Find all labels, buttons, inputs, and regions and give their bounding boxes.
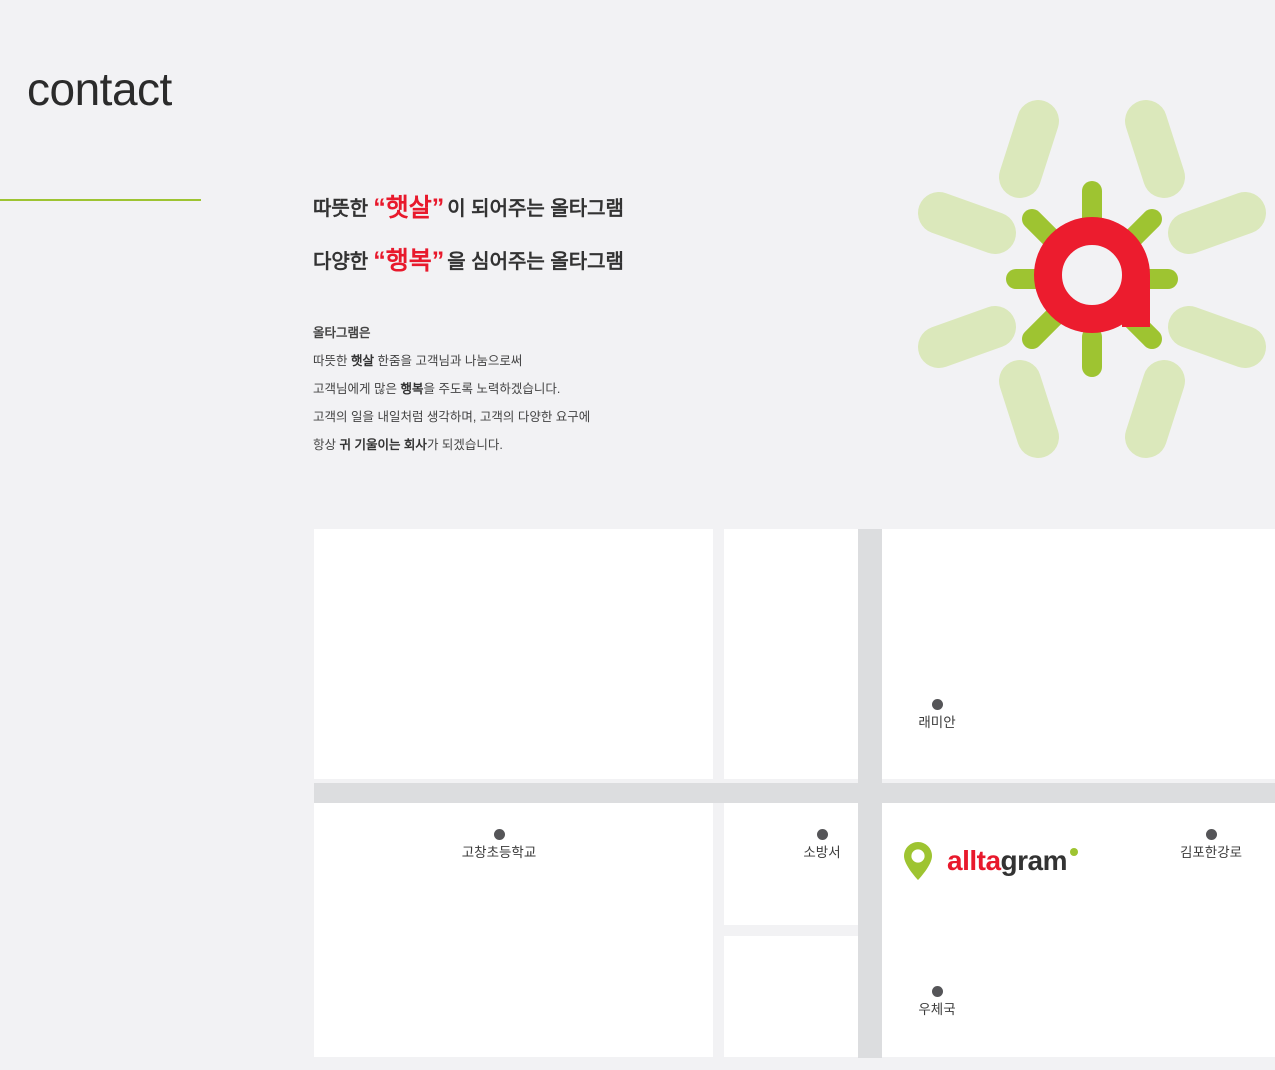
headline-2-suffix: 을 심어주는 올타그램 <box>445 251 624 273</box>
headline-1-suffix: 이 되어주는 올타그램 <box>445 198 624 220</box>
map-poi-fire-station[interactable]: 소방서 <box>757 829 887 860</box>
letter-a <box>1048 231 1150 327</box>
poi-dot-icon <box>932 699 943 710</box>
outer-rays <box>939 121 1245 437</box>
map-block-lower-middle-lower <box>724 936 858 1057</box>
map-poi-raemian[interactable]: 래미안 <box>872 699 1002 730</box>
map-block-upper-left <box>314 529 713 779</box>
headline-1-highlight: “햇살” <box>372 194 445 222</box>
body-line-4: 항상 귀 기울이는 회사가 되겠습니다. <box>313 431 733 459</box>
poi-label: 고창초등학교 <box>434 846 564 860</box>
location-pin-icon <box>904 842 932 880</box>
wordmark-dark-part: gram <box>1001 845 1067 876</box>
poi-dot-icon <box>494 829 505 840</box>
headline-1-prefix: 따뜻한 <box>313 198 372 220</box>
map-block-upper-right <box>882 529 1275 779</box>
map-poi-gochang-elementary-school[interactable]: 고창초등학교 <box>434 829 564 860</box>
wordmark-dot-icon <box>1070 848 1078 856</box>
map-road-horizontal <box>314 783 1275 803</box>
body-line-2: 고객님에게 많은 행복을 주도록 노력하겠습니다. <box>313 375 733 403</box>
headline-line-1: 따뜻한“햇살”이 되어주는 올타그램 <box>313 193 743 223</box>
body-lead-line: 올타그램은 <box>313 319 733 347</box>
location-map[interactable]: 래미안 고창초등학교 소방서 김포한강로 우체국 alltagram <box>314 529 1275 1058</box>
headline-2-prefix: 다양한 <box>313 251 372 273</box>
page-title: contact <box>27 66 172 112</box>
headline-block: 따뜻한“햇살”이 되어주는 올타그램 다양한“행복”을 심어주는 올타그램 <box>313 193 743 299</box>
poi-label: 우체국 <box>872 1003 1002 1017</box>
map-block-upper-middle <box>724 529 858 779</box>
map-poi-gimpo-hangang-ro[interactable]: 김포한강로 <box>1146 829 1275 860</box>
title-underline-rule <box>0 199 201 201</box>
body-line-1: 따뜻한 햇살 한줌을 고객님과 나눔으로써 <box>313 347 733 375</box>
poi-label: 래미안 <box>872 716 1002 730</box>
wordmark-red-part: allta <box>947 845 1001 876</box>
poi-dot-icon <box>932 986 943 997</box>
map-poi-post-office[interactable]: 우체국 <box>872 986 1002 1017</box>
alltagram-sun-logo <box>907 85 1275 470</box>
headline-2-highlight: “행복” <box>372 247 445 275</box>
poi-label: 소방서 <box>757 846 887 860</box>
poi-dot-icon <box>817 829 828 840</box>
headline-line-2: 다양한“행복”을 심어주는 올타그램 <box>313 246 743 276</box>
body-copy-block: 올타그램은 따뜻한 햇살 한줌을 고객님과 나눔으로써 고객님에게 많은 행복을… <box>313 319 733 459</box>
poi-label: 김포한강로 <box>1146 846 1275 860</box>
map-marker-alltagram[interactable]: alltagram <box>904 842 1067 880</box>
alltagram-wordmark: alltagram <box>947 847 1067 875</box>
map-block-lower-middle-upper <box>724 803 858 925</box>
poi-dot-icon <box>1206 829 1217 840</box>
body-line-3: 고객의 일을 내일처럼 생각하며, 고객의 다양한 요구에 <box>313 403 733 431</box>
